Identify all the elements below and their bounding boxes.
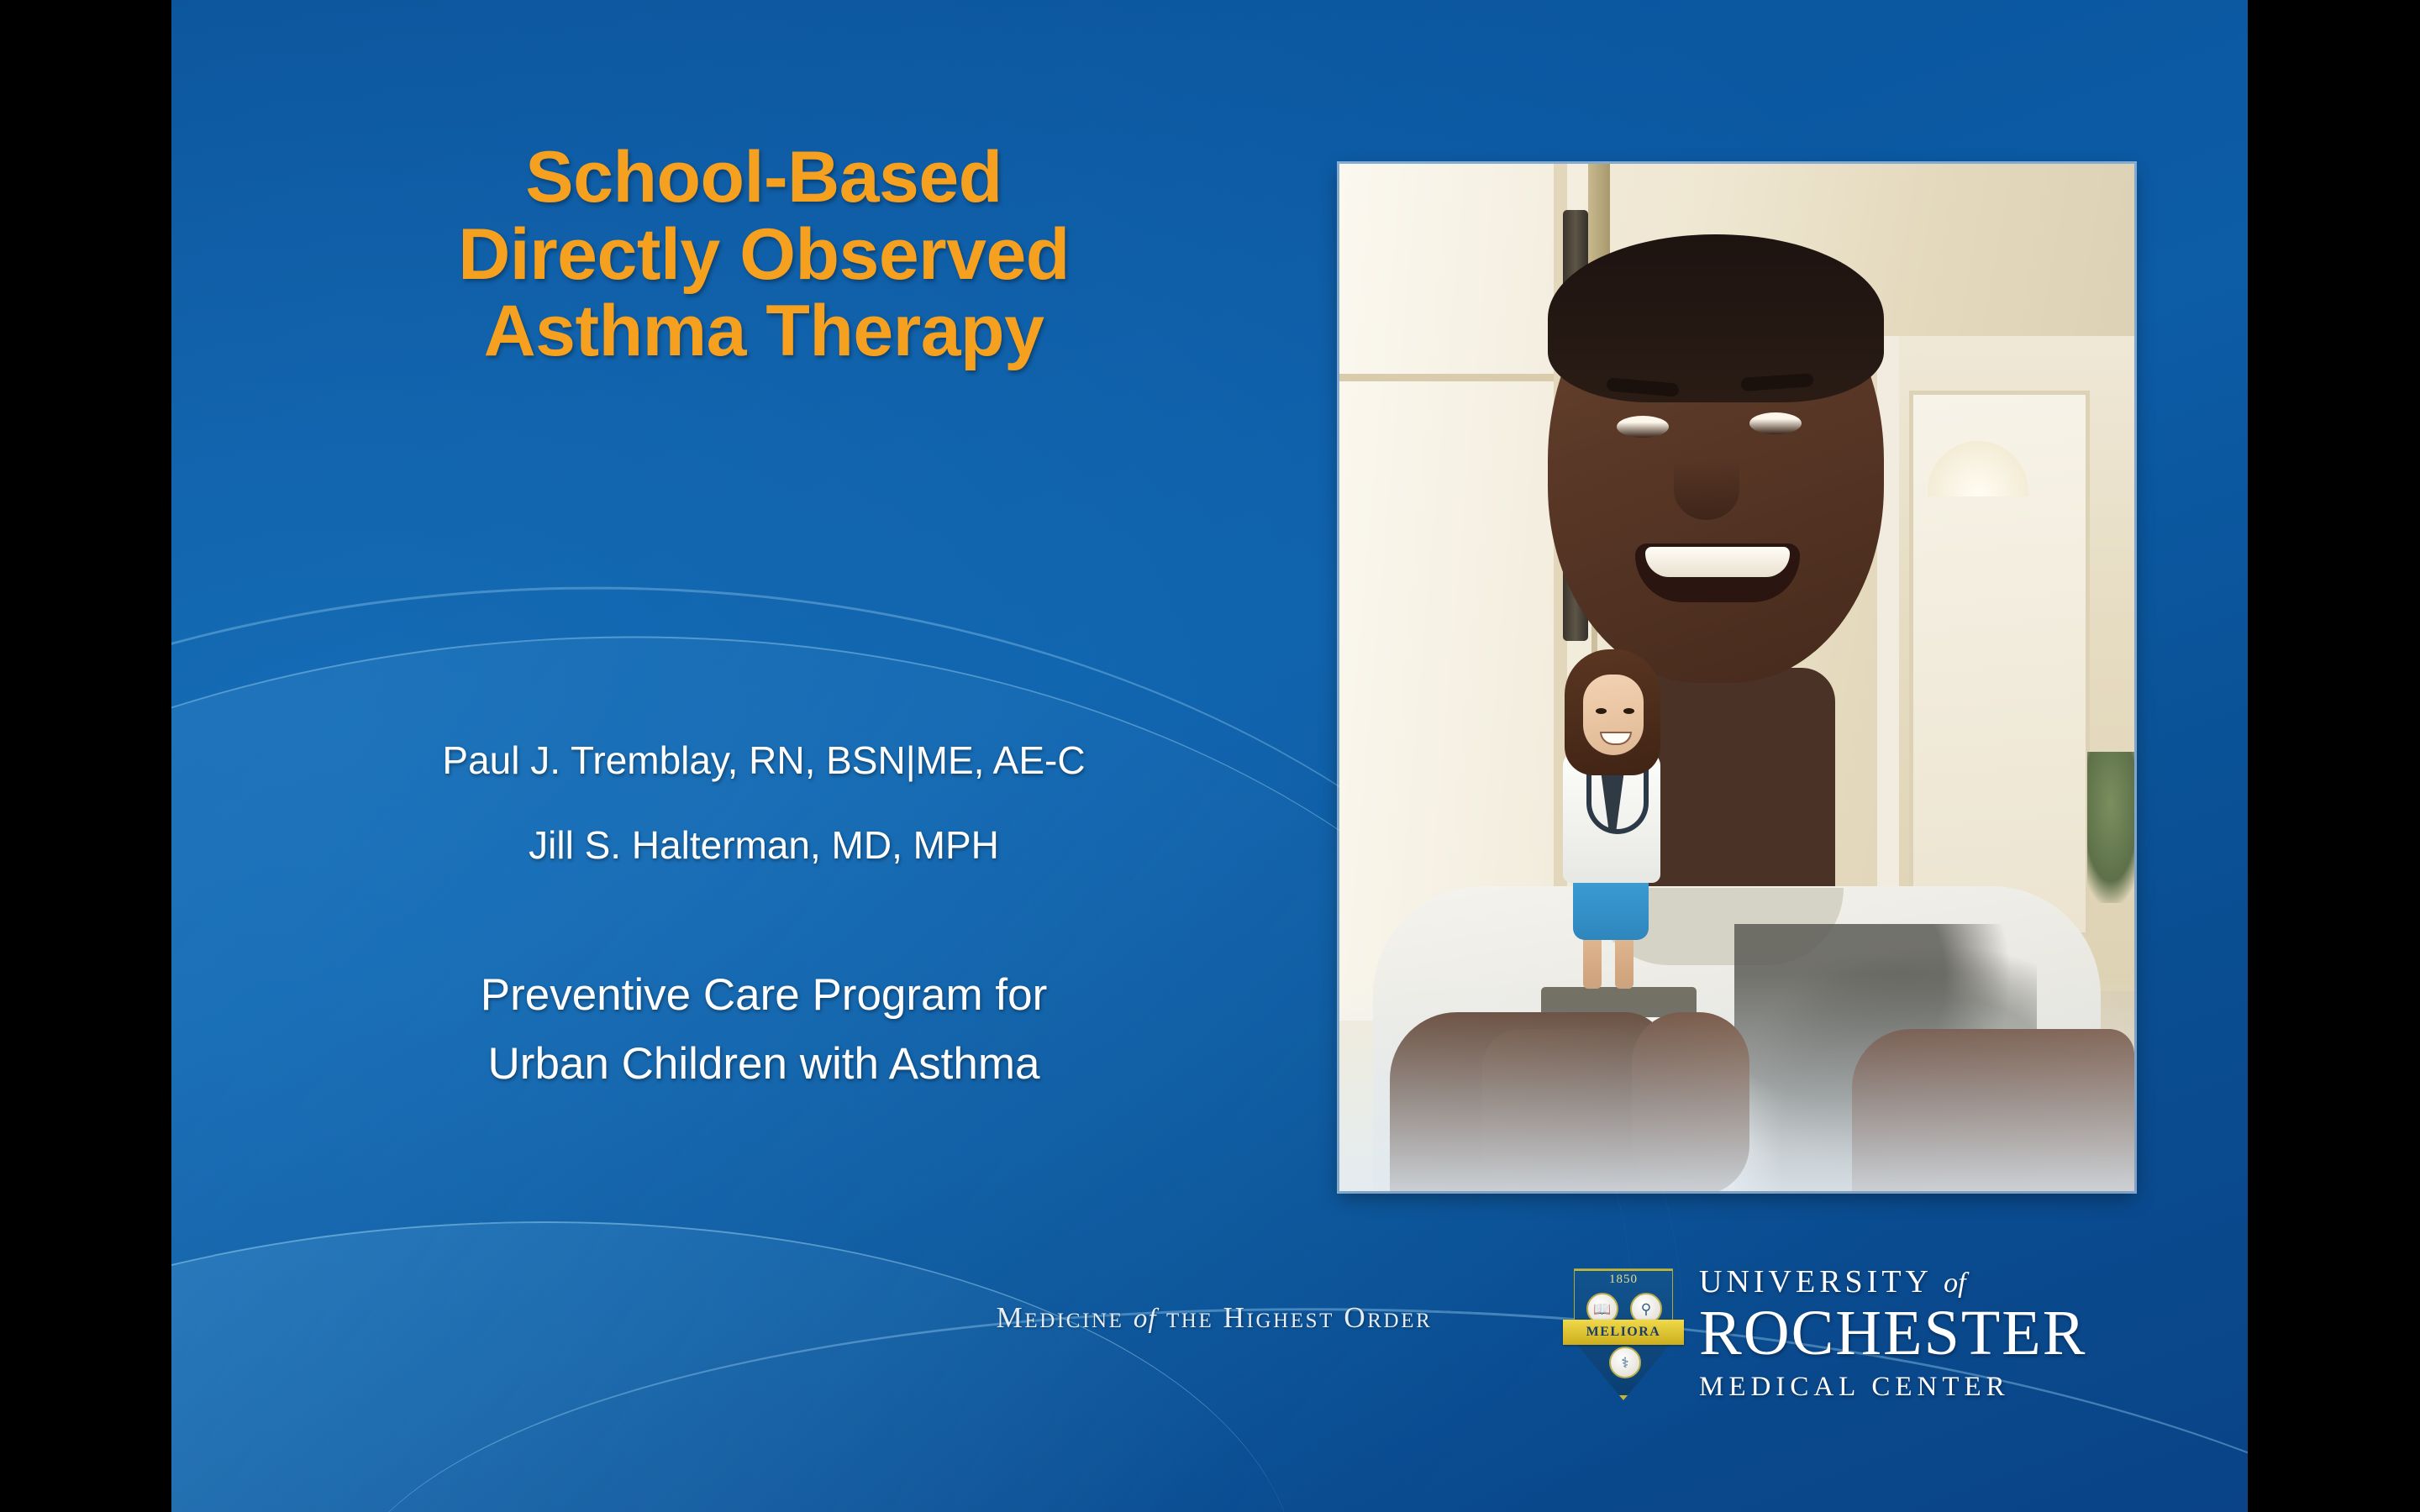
author-2: Jill S. Halterman, MD, MPH bbox=[171, 824, 1356, 867]
bobblehead-eye-right bbox=[1623, 708, 1634, 714]
wordmark-university: UNIVERSITY bbox=[1699, 1264, 1932, 1299]
subtitle-line-1: Preventive Care Program for bbox=[171, 970, 1356, 1021]
slide-subtitle: Preventive Care Program for Urban Childr… bbox=[171, 970, 1356, 1109]
decorative-swoosh-small bbox=[171, 1194, 1310, 1512]
tagline-after: the Highest Order bbox=[1166, 1301, 1432, 1334]
wordmark-medical-center: MEDICAL CENTER bbox=[1699, 1373, 2086, 1401]
author-1: Paul J. Tremblay, RN, BSN|ME, AE-C bbox=[171, 739, 1356, 782]
brand-tagline: Medicine of the Highest Order bbox=[882, 1301, 1546, 1335]
photo-teeth bbox=[1645, 547, 1790, 577]
presentation-slide: School-Based Directly Observed Asthma Th… bbox=[171, 0, 2248, 1512]
wordmark-line-1: UNIVERSITY of bbox=[1699, 1266, 2086, 1298]
tagline-italic: of bbox=[1134, 1304, 1157, 1334]
photo-floor-glow bbox=[1339, 973, 2134, 1191]
photo-smile bbox=[1635, 543, 1800, 602]
letterbox-bar-right bbox=[2248, 0, 2420, 1512]
university-logo: 1850 📖 ⚲ ⚕ MELIORA UNIVERSITY of ROCHEST… bbox=[1570, 1253, 2208, 1413]
photo-plant bbox=[2087, 752, 2134, 903]
shield-caduceus-icon: ⚕ bbox=[1609, 1347, 1641, 1378]
subtitle-line-2: Urban Children with Asthma bbox=[171, 1039, 1356, 1089]
shield-motto-banner: MELIORA bbox=[1563, 1320, 1684, 1345]
rochester-shield-icon: 1850 📖 ⚲ ⚕ MELIORA bbox=[1570, 1266, 1677, 1400]
shield-year: 1850 bbox=[1570, 1273, 1677, 1287]
tagline-before: Medicine bbox=[997, 1301, 1124, 1334]
photo-subject-hair bbox=[1548, 234, 1884, 402]
title-line-2: Directly Observed bbox=[171, 218, 1356, 292]
letterbox-bar-left bbox=[0, 0, 171, 1512]
title-line-1: School-Based bbox=[171, 141, 1356, 215]
slide-photo bbox=[1339, 164, 2134, 1191]
photo-eye-right bbox=[1749, 412, 1802, 434]
photo-eye-left bbox=[1617, 416, 1669, 438]
photo-nose bbox=[1674, 459, 1739, 520]
author-list: Paul J. Tremblay, RN, BSN|ME, AE-C Jill … bbox=[171, 739, 1356, 908]
title-line-3: Asthma Therapy bbox=[171, 295, 1356, 369]
slide-title: School-Based Directly Observed Asthma Th… bbox=[171, 141, 1356, 369]
bobblehead-eye-left bbox=[1596, 708, 1607, 714]
logo-wordmark: UNIVERSITY of ROCHESTER MEDICAL CENTER bbox=[1699, 1266, 2086, 1401]
slide-screen: School-Based Directly Observed Asthma Th… bbox=[0, 0, 2420, 1512]
wordmark-rochester: ROCHESTER bbox=[1699, 1301, 2086, 1365]
wordmark-of: of bbox=[1944, 1268, 1965, 1299]
